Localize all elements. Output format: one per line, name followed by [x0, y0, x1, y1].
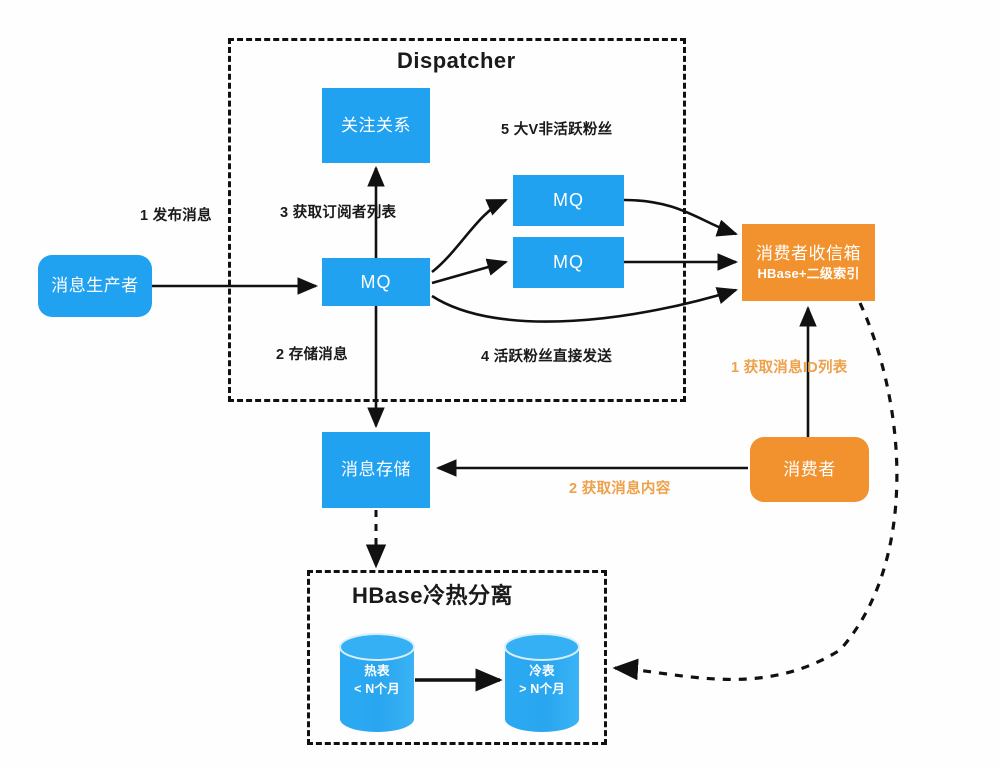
edge-label-get-message-id-list: 1 获取消息ID列表 [731, 356, 848, 377]
node-consumer[interactable]: 消费者 [750, 437, 869, 502]
edge-label-publish-message: 1 发布消息 [140, 204, 212, 225]
node-label: MQ [361, 271, 392, 294]
node-label: MQ [553, 189, 584, 212]
node-follow-relation[interactable]: 关注关系 [322, 88, 430, 163]
node-mq-bottom[interactable]: MQ [513, 237, 624, 288]
diagram-canvas: Dispatcher HBase冷热分离 消息生产者 关注关系 MQ MQ MQ… [0, 0, 1000, 769]
hbase-title: HBase冷热分离 [352, 578, 513, 610]
edge-label-get-message-content: 2 获取消息内容 [569, 477, 671, 498]
node-sublabel: HBase+二级索引 [757, 266, 859, 282]
node-label: 消费者收信箱 [756, 243, 861, 264]
edge-label-get-subscriber-list: 3 获取订阅者列表 [280, 201, 396, 222]
edge-label-active-fans-direct: 4 活跃粉丝直接发送 [481, 345, 612, 366]
edge-label-store-message: 2 存储消息 [276, 343, 348, 364]
node-mq-top[interactable]: MQ [513, 175, 624, 226]
node-label: 关注关系 [341, 115, 411, 136]
node-mq-center[interactable]: MQ [322, 258, 430, 306]
edge-label-bigv-inactive-fans: 5 大V非活跃粉丝 [501, 118, 612, 139]
node-label: 消息生产者 [51, 275, 139, 296]
node-label: 消费者 [783, 459, 836, 480]
node-label: 消息存储 [341, 459, 411, 480]
node-message-storage[interactable]: 消息存储 [322, 432, 430, 508]
node-consumer-inbox[interactable]: 消费者收信箱 HBase+二级索引 [742, 224, 875, 301]
node-message-producer[interactable]: 消息生产者 [38, 255, 152, 317]
node-label: MQ [553, 251, 584, 274]
dispatcher-title: Dispatcher [397, 48, 516, 74]
